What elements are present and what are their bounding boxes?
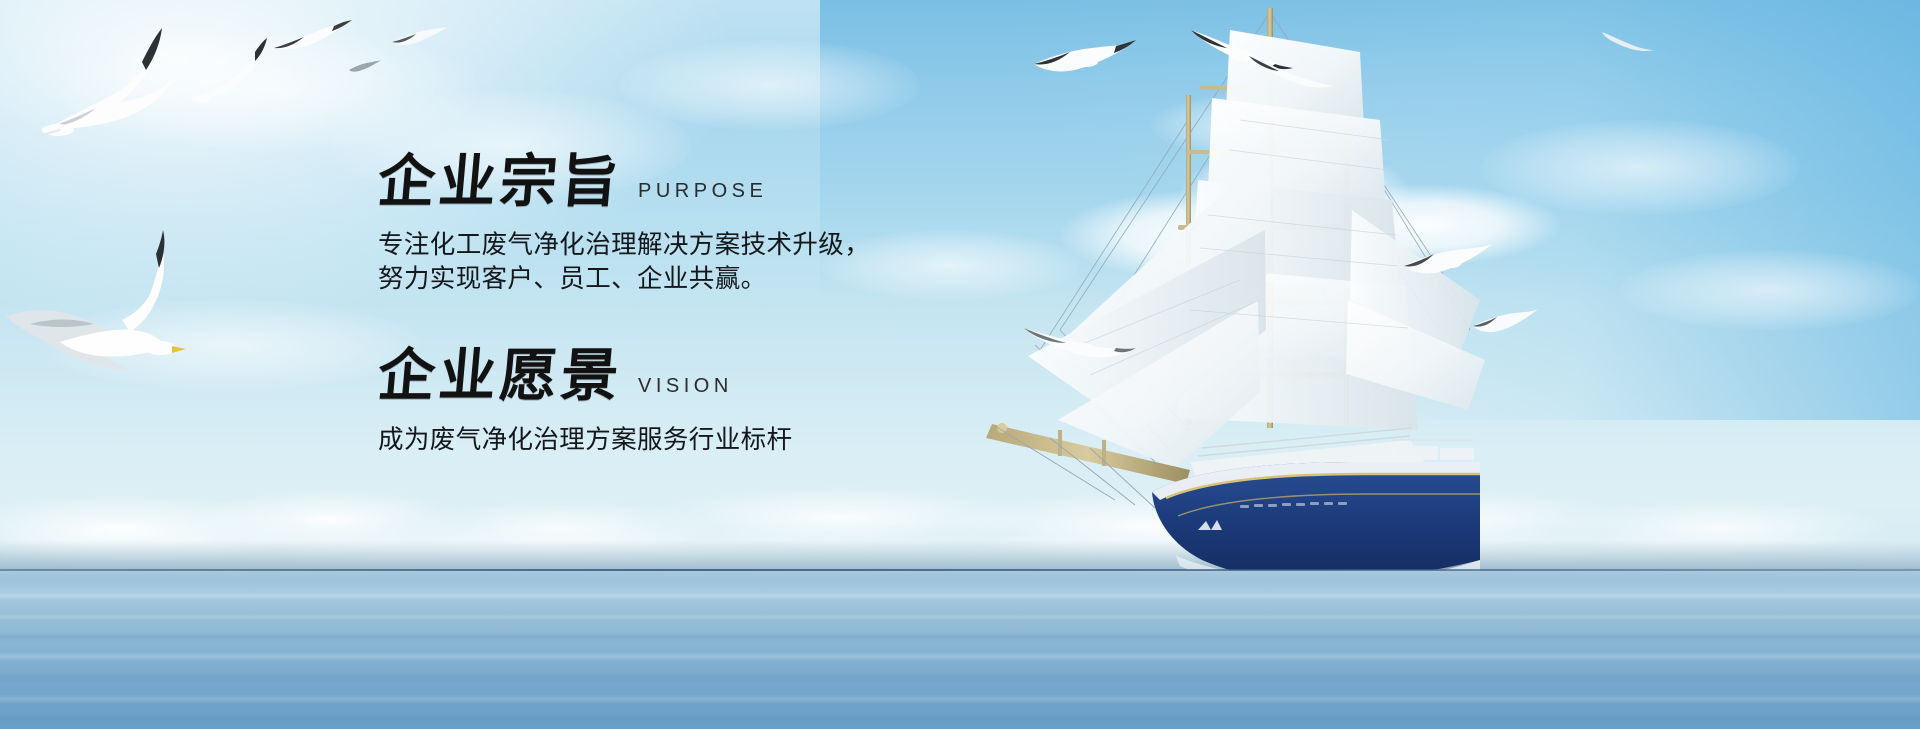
sea-highlight bbox=[0, 652, 1920, 661]
seagull-icon bbox=[0, 230, 190, 390]
vision-heading-row: 企业愿景 VISION bbox=[378, 346, 1018, 406]
vision-body: 成为废气净化治理方案服务行业标杆 bbox=[378, 423, 1018, 457]
sea-shadow bbox=[0, 712, 1920, 726]
seagull-icon bbox=[348, 58, 382, 78]
horizon-line bbox=[0, 569, 1920, 571]
vision-heading-en: VISION bbox=[638, 375, 733, 398]
cloud-wisp bbox=[620, 40, 920, 130]
purpose-section: 企业宗旨 PURPOSE 专注化工废气净化治理解决方案技术升级， 努力实现客户、… bbox=[378, 152, 1018, 296]
vision-line-1: 成为废气净化治理方案服务行业标杆 bbox=[378, 423, 1018, 457]
cloud-wisp bbox=[1480, 120, 1800, 215]
sea-highlight bbox=[0, 694, 1920, 704]
seagull-icon bbox=[30, 20, 180, 150]
vision-section: 企业愿景 VISION 成为废气净化治理方案服务行业标杆 bbox=[378, 346, 1018, 456]
seagull-icon bbox=[185, 38, 275, 118]
purpose-heading-en: PURPOSE bbox=[638, 180, 767, 203]
purpose-body: 专注化工废气净化治理解决方案技术升级， 努力实现客户、员工、企业共赢。 bbox=[378, 228, 1018, 296]
seagull-icon bbox=[1600, 22, 1655, 54]
purpose-line-1: 专注化工废气净化治理解决方案技术升级， bbox=[378, 228, 1018, 262]
banner-text-block: 企业宗旨 PURPOSE 专注化工废气净化治理解决方案技术升级， 努力实现客户、… bbox=[378, 152, 1018, 457]
seagull-icon bbox=[1400, 232, 1495, 288]
purpose-heading-row: 企业宗旨 PURPOSE bbox=[378, 152, 1018, 212]
sea-shadow bbox=[0, 672, 1920, 684]
sea-highlight bbox=[0, 614, 1920, 620]
cloud-wisp bbox=[1620, 250, 1920, 330]
sea-shadow bbox=[0, 632, 1920, 642]
seagull-icon bbox=[1020, 310, 1140, 370]
hero-banner: 企业宗旨 PURPOSE 专注化工废气净化治理解决方案技术升级， 努力实现客户、… bbox=[0, 0, 1920, 729]
vision-heading-cn: 企业愿景 bbox=[375, 346, 624, 406]
tall-ship-illustration bbox=[940, 0, 1500, 600]
purpose-line-2: 努力实现客户、员工、企业共赢。 bbox=[378, 262, 1018, 296]
seagull-icon bbox=[270, 18, 355, 68]
sea-highlight bbox=[0, 592, 1920, 600]
seagull-icon bbox=[1470, 300, 1540, 344]
seagull-icon bbox=[1030, 28, 1140, 88]
purpose-heading-cn: 企业宗旨 bbox=[375, 152, 624, 212]
seagull-icon bbox=[390, 22, 450, 56]
seagull-icon bbox=[1245, 42, 1335, 94]
